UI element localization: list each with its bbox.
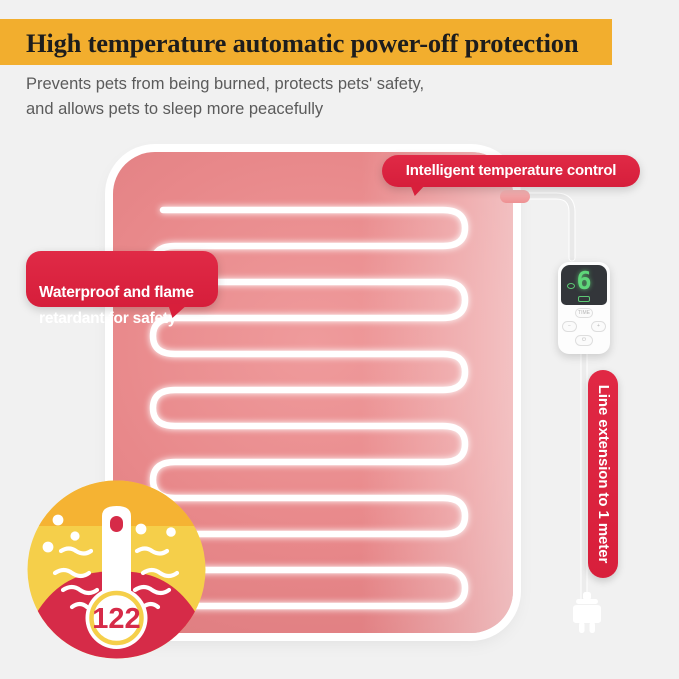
increase-button[interactable]: + <box>591 321 606 332</box>
page-title: High temperature automatic power-off pro… <box>26 24 626 62</box>
decrease-button[interactable]: − <box>562 321 577 332</box>
temperature-controller[interactable]: 6 TIME − + ⏻ <box>558 262 610 354</box>
controller-button-pad: TIME − + ⏻ <box>558 306 610 354</box>
display-value: 6 <box>561 266 607 296</box>
line-extension-label: Line extension to 1 meter <box>588 370 618 578</box>
display-mode-icon <box>578 296 590 302</box>
power-button[interactable]: ⏻ <box>575 335 593 346</box>
pad-cable-connector <box>500 190 530 203</box>
line-extension-badge: Line extension to 1 meter <box>588 370 618 578</box>
power-plug-icon <box>563 592 611 636</box>
controller-display: 6 <box>561 265 607 305</box>
callout-intelligent-temperature: Intelligent temperature control <box>382 155 640 187</box>
temperature-badge: 122 <box>25 478 208 661</box>
temperature-value: 122 <box>92 603 140 635</box>
callout-temperature-label: Intelligent temperature control <box>406 162 617 179</box>
page-subtitle: Prevents pets from being burned, protect… <box>26 72 546 122</box>
callout-waterproof: Waterproof and flame retardant for safet… <box>26 251 218 307</box>
display-indicator-icon <box>567 283 575 289</box>
timer-button[interactable]: TIME <box>575 308 593 318</box>
